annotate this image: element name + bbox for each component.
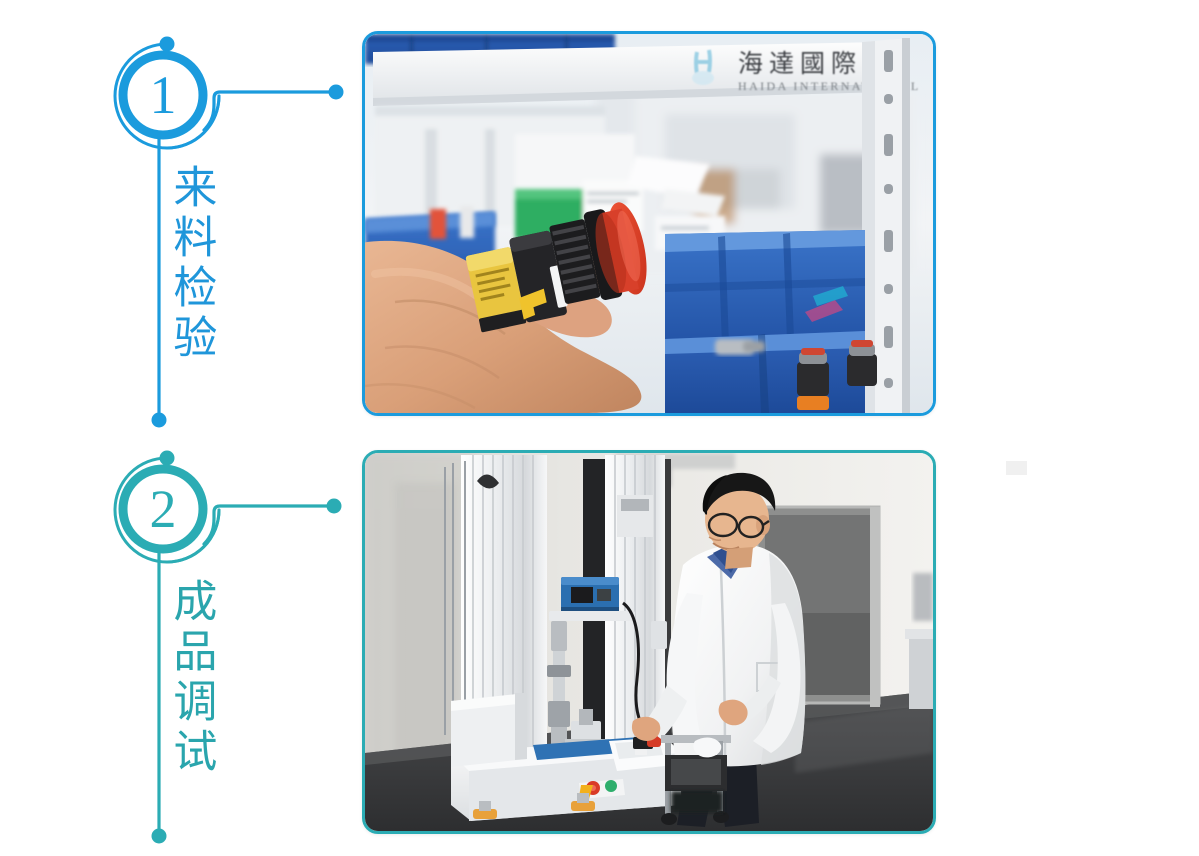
step-marker-2[interactable]: 2 xyxy=(115,451,342,844)
infographic-stage: 1 2 来料检验 成品调试 xyxy=(0,0,1199,856)
step-2-elbow-connector xyxy=(204,506,328,544)
step-1-spine-end-dot xyxy=(152,413,167,428)
step-marker-1[interactable]: 1 xyxy=(115,37,344,428)
photo-product-debugging[interactable] xyxy=(362,450,936,834)
gray-artifact-rect xyxy=(1006,461,1027,475)
step-2-spine-end-dot xyxy=(152,829,167,844)
step-1-number: 1 xyxy=(150,65,177,125)
step-1-elbow-connector xyxy=(204,92,330,130)
step-1-label: 来料检验 xyxy=(162,164,218,364)
photo-2-content xyxy=(365,453,933,831)
step-2-connector-dot xyxy=(327,499,342,514)
step-2-number: 2 xyxy=(150,479,177,539)
step-2-label: 成品调试 xyxy=(162,578,218,778)
step-1-connector-dot xyxy=(329,85,344,100)
photo-2-scene xyxy=(365,453,933,831)
photo-incoming-inspection[interactable]: 海達國際 HAIDA INTERNATIONAL xyxy=(362,31,936,416)
step-1-arc-dot xyxy=(160,37,175,52)
photo-1-scene: 海達國際 HAIDA INTERNATIONAL xyxy=(365,34,933,413)
photo-1-content: 海達國際 HAIDA INTERNATIONAL xyxy=(365,34,933,413)
photo-1-brand-cn: 海達國際 xyxy=(738,49,862,78)
step-2-arc-dot xyxy=(160,451,175,466)
